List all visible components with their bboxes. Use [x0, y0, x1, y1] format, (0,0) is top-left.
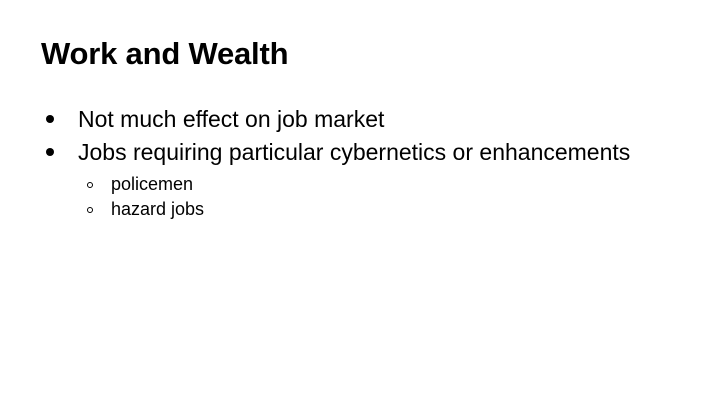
hollow-circle-bullet-icon: [87, 207, 93, 213]
bullet-list-level-1: Not much effect on job market Jobs requi…: [41, 104, 651, 222]
list-item-label: Not much effect on job market: [78, 106, 384, 132]
slide: Work and Wealth Not much effect on job m…: [0, 0, 720, 405]
page-title: Work and Wealth: [41, 36, 288, 72]
list-item: Jobs requiring particular cybernetics or…: [41, 137, 651, 222]
list-item-label: Jobs requiring particular cybernetics or…: [78, 139, 630, 165]
hollow-circle-bullet-icon: [87, 182, 93, 188]
list-item: hazard jobs: [78, 197, 651, 222]
list-item: Not much effect on job market: [41, 104, 651, 135]
filled-circle-bullet-icon: [46, 148, 54, 156]
slide-body: Not much effect on job market Jobs requi…: [41, 104, 651, 224]
list-item: policemen: [78, 172, 651, 197]
list-item-label: policemen: [111, 174, 193, 194]
filled-circle-bullet-icon: [46, 115, 54, 123]
bullet-list-level-2: policemen hazard jobs: [78, 172, 651, 222]
list-item-label: hazard jobs: [111, 199, 204, 219]
